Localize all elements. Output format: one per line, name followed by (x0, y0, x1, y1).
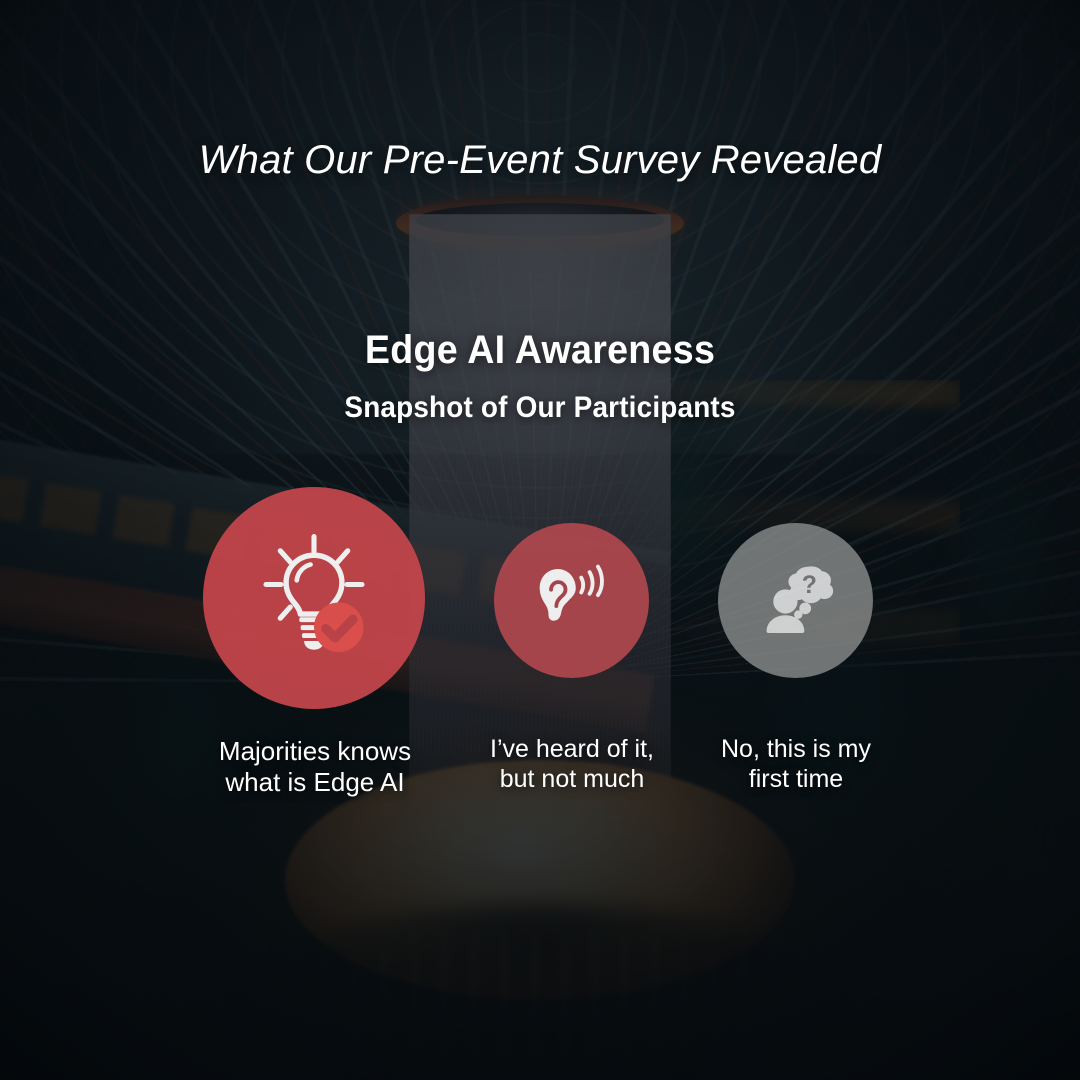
page-subtitle: Snapshot of Our Participants (38, 391, 1042, 425)
person-question-icon: ? (718, 523, 873, 678)
slide-content: What Our Pre-Event Survey Revealed Edge … (0, 0, 1080, 1080)
caption-line: No, this is my (690, 734, 902, 764)
caption-line: first time (690, 764, 902, 794)
option-caption-knows: Majorities knows what is Edge AI (170, 736, 460, 798)
caption-line: I’ve heard of it, (462, 734, 682, 764)
svg-text:?: ? (801, 572, 816, 599)
option-caption-first-time: No, this is my first time (690, 734, 902, 794)
caption-line: what is Edge AI (170, 767, 460, 798)
lightbulb-check-icon (203, 487, 425, 709)
caption-line: but not much (462, 764, 682, 794)
option-circle-heard[interactable] (494, 523, 649, 678)
slide-eyebrow: What Our Pre-Event Survey Revealed (0, 138, 1080, 183)
option-circle-knows[interactable] (203, 487, 425, 709)
caption-line: Majorities knows (170, 736, 460, 767)
page-title: Edge AI Awareness (32, 328, 1047, 373)
slide-canvas: What Our Pre-Event Survey Revealed Edge … (0, 0, 1080, 1080)
ear-listening-icon (494, 523, 649, 678)
option-caption-heard: I’ve heard of it, but not much (462, 734, 682, 794)
option-circle-first-time[interactable]: ? (718, 523, 873, 678)
